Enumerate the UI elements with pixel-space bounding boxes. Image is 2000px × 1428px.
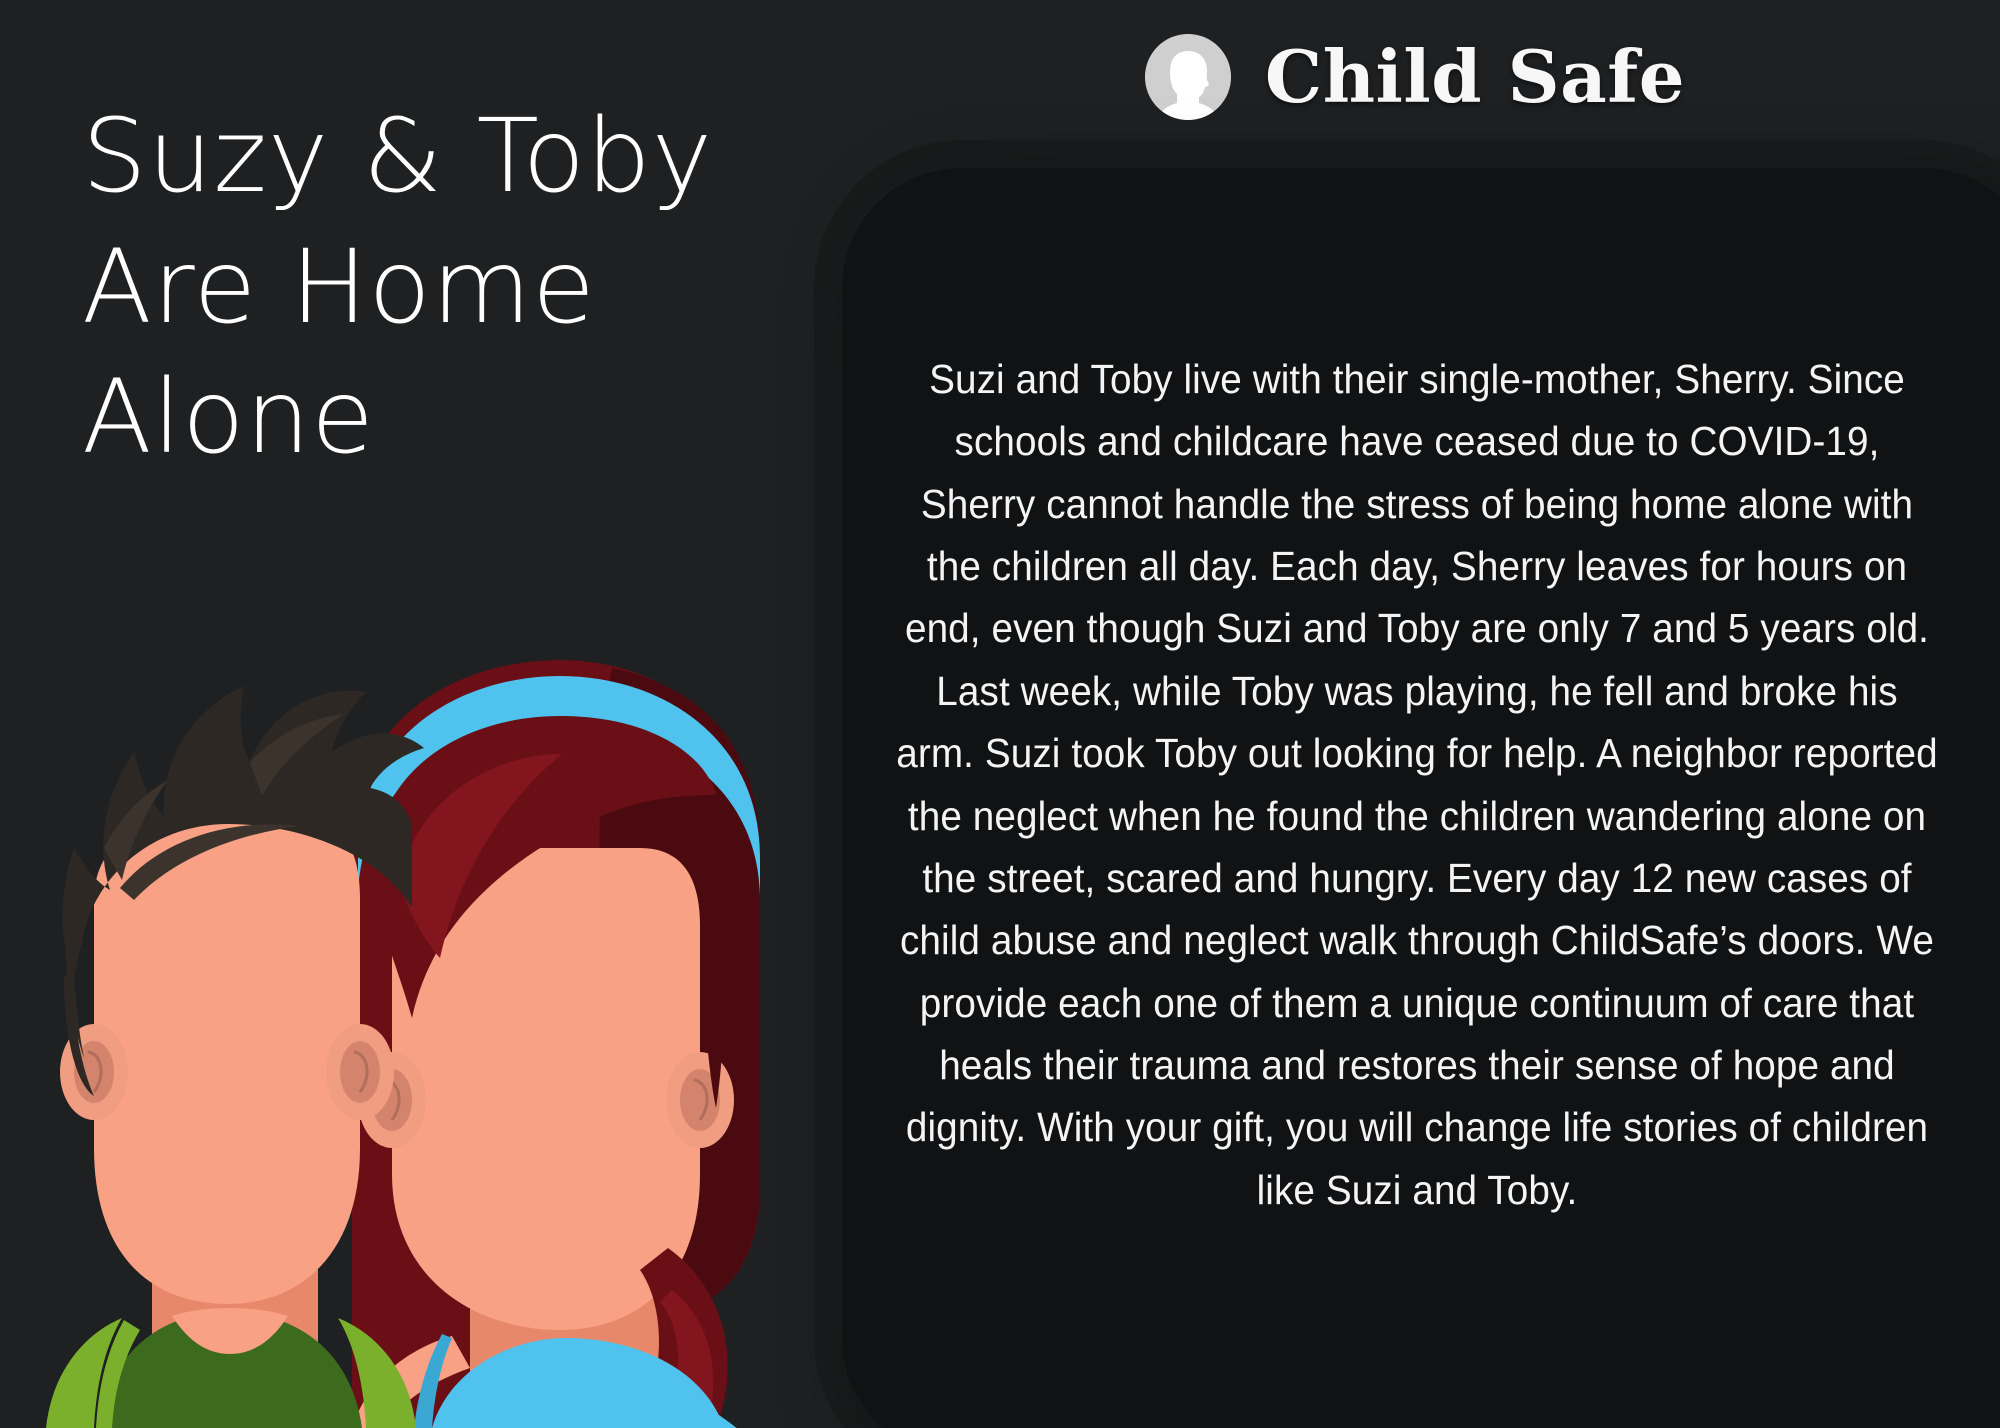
left-panel: Suzy & Toby Are Home Alone bbox=[0, 0, 830, 1428]
child-head-avatar-icon bbox=[1145, 34, 1231, 120]
brand-name: Child Safe bbox=[1265, 41, 1685, 113]
page-title: Suzy & Toby Are Home Alone bbox=[82, 92, 782, 484]
child-silhouette-icon bbox=[1145, 34, 1231, 120]
headline-line-1: Suzy & Toby bbox=[82, 92, 782, 223]
two-children-illustration bbox=[0, 548, 830, 1428]
girl-figure bbox=[352, 660, 812, 1428]
boy-ear-right bbox=[326, 1024, 394, 1120]
children-artwork bbox=[0, 548, 830, 1428]
poster-canvas: Suzy & Toby Are Home Alone bbox=[0, 0, 2000, 1428]
headline-line-3: Alone bbox=[82, 353, 782, 484]
story-body-text: Suzi and Toby live with their single-mot… bbox=[893, 348, 1942, 1221]
girl-ear-right bbox=[666, 1052, 734, 1148]
brand-header: Child Safe bbox=[830, 34, 2000, 120]
headline-line-2: Are Home bbox=[82, 223, 782, 354]
